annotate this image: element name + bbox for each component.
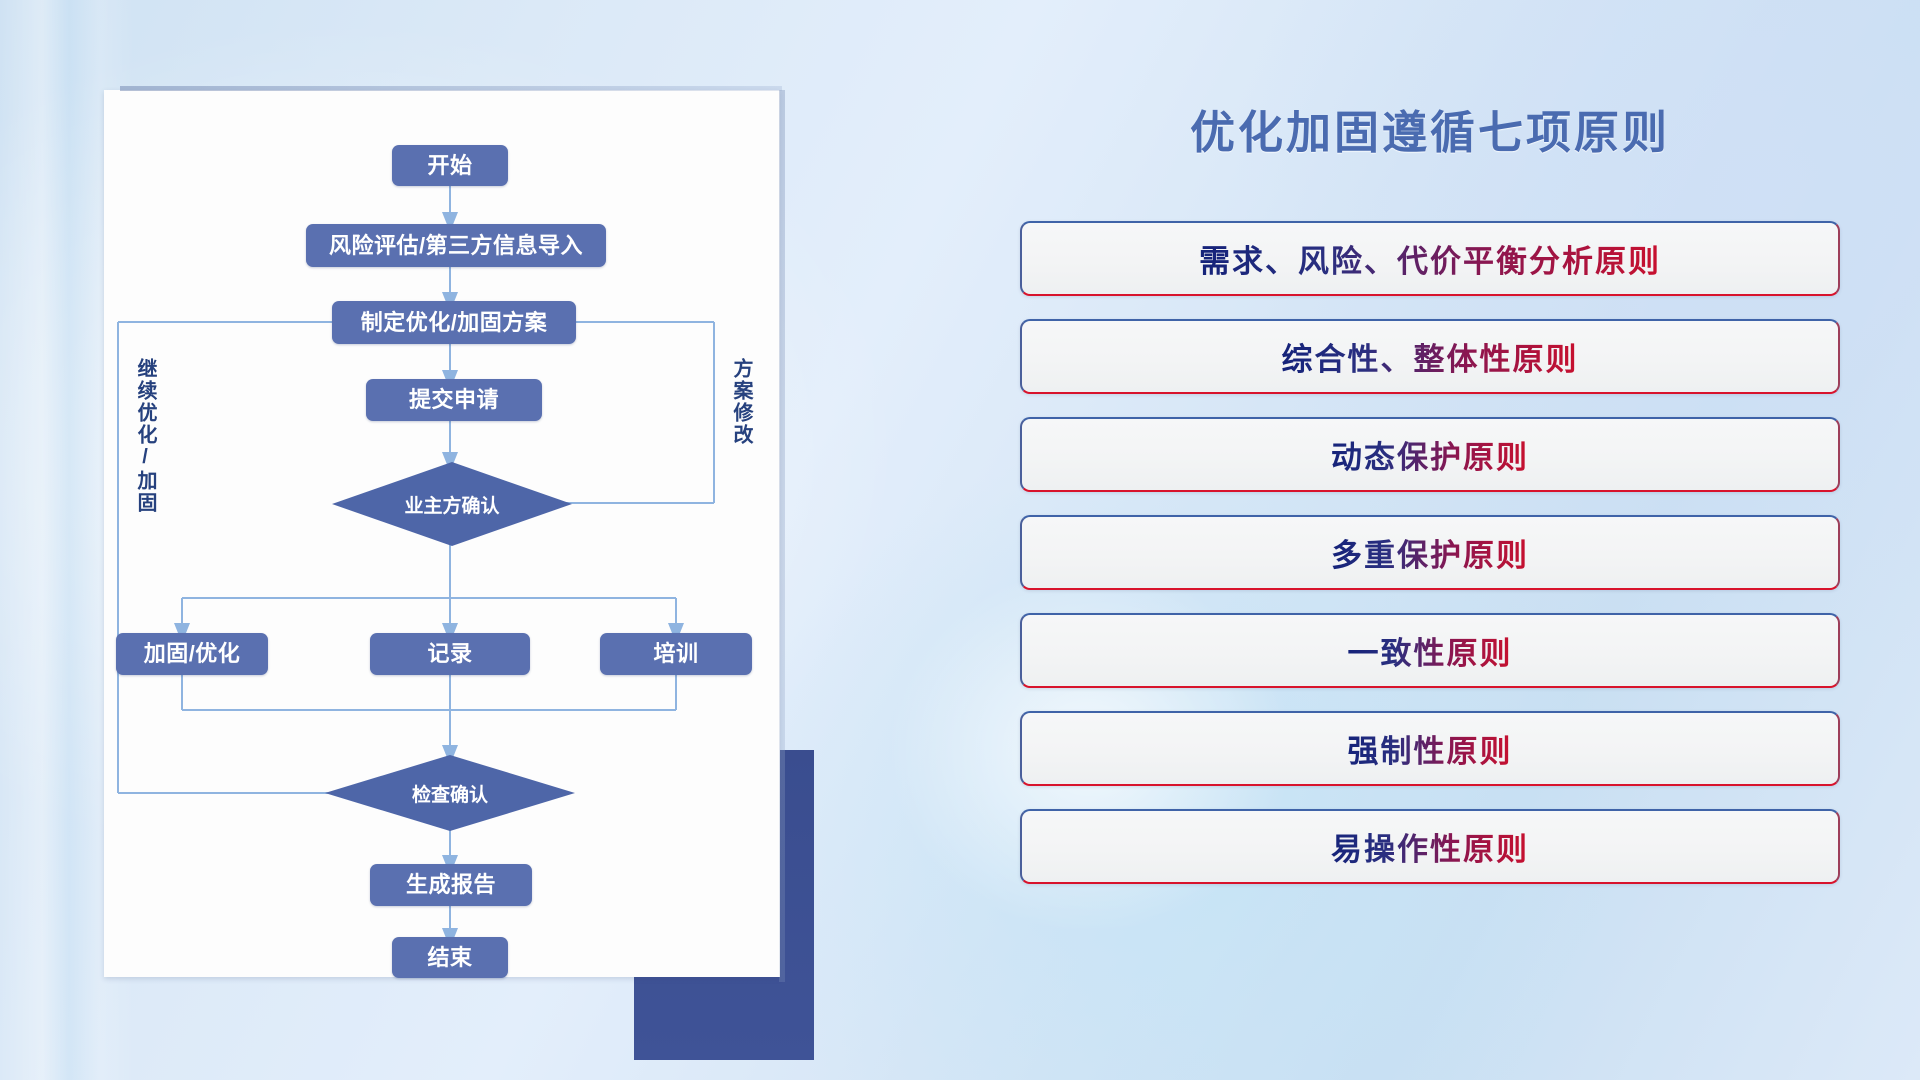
flow-node-record[interactable]: 记录 (370, 633, 530, 675)
flow-node-label: 业主方确认 (404, 491, 499, 518)
principle-item[interactable]: 需求、风险、代价平衡分析原则 (1020, 221, 1840, 296)
principle-item[interactable]: 易操作性原则 (1020, 809, 1840, 884)
flow-node-harden-optimize[interactable]: 加固/优化 (116, 633, 268, 675)
principles-list: 需求、风险、代价平衡分析原则 综合性、整体性原则 动态保护原则 多重保护原则 一… (1020, 221, 1840, 884)
principle-item[interactable]: 多重保护原则 (1020, 515, 1840, 590)
principle-label: 一致性原则 (1348, 628, 1513, 673)
flow-node-label: 记录 (427, 643, 472, 665)
principle-label: 综合性、整体性原则 (1282, 334, 1579, 379)
principle-label: 易操作性原则 (1331, 824, 1529, 869)
flow-node-submit-application[interactable]: 提交申请 (366, 379, 542, 421)
principle-label: 多重保护原则 (1331, 530, 1529, 575)
flow-edge-label-plan-revision: 方案修改 (730, 358, 751, 446)
flow-node-label: 结束 (427, 947, 472, 969)
flow-node-label: 培训 (653, 643, 698, 665)
flow-node-label: 加固/优化 (144, 643, 241, 665)
flow-node-label: 提交申请 (409, 389, 499, 411)
flowchart-stage: 开始 风险评估/第三方信息导入 制定优化/加固方案 提交申请 业主方确认 加固/… (104, 90, 780, 977)
flow-node-make-plan[interactable]: 制定优化/加固方案 (332, 301, 576, 344)
flow-node-generate-report[interactable]: 生成报告 (370, 864, 532, 906)
flow-node-end[interactable]: 结束 (392, 937, 508, 978)
flow-node-risk-assessment[interactable]: 风险评估/第三方信息导入 (306, 224, 606, 267)
flow-node-label: 风险评估/第三方信息导入 (329, 235, 583, 257)
principles-panel: 优化加固遵循七项原则 需求、风险、代价平衡分析原则 综合性、整体性原则 动态保护… (1020, 96, 1840, 884)
principle-item[interactable]: 动态保护原则 (1020, 417, 1840, 492)
flow-node-label: 生成报告 (406, 874, 496, 896)
flow-edge-label-continue-optimize: 继续优化/加固 (134, 358, 155, 514)
flow-node-start[interactable]: 开始 (392, 145, 508, 186)
principle-item[interactable]: 一致性原则 (1020, 613, 1840, 688)
principle-label: 动态保护原则 (1331, 432, 1529, 477)
flow-node-label: 制定优化/加固方案 (361, 312, 548, 334)
flow-node-label: 开始 (427, 155, 472, 177)
page-title: 优化加固遵循七项原则 (1020, 96, 1840, 161)
principle-label: 强制性原则 (1348, 726, 1513, 771)
flow-node-label: 检查确认 (412, 780, 488, 807)
principle-item[interactable]: 强制性原则 (1020, 711, 1840, 786)
flow-node-training[interactable]: 培训 (600, 633, 752, 675)
principle-label: 需求、风险、代价平衡分析原则 (1199, 236, 1661, 281)
flowchart-panel: 开始 风险评估/第三方信息导入 制定优化/加固方案 提交申请 业主方确认 加固/… (104, 90, 784, 990)
principle-item[interactable]: 综合性、整体性原则 (1020, 319, 1840, 394)
